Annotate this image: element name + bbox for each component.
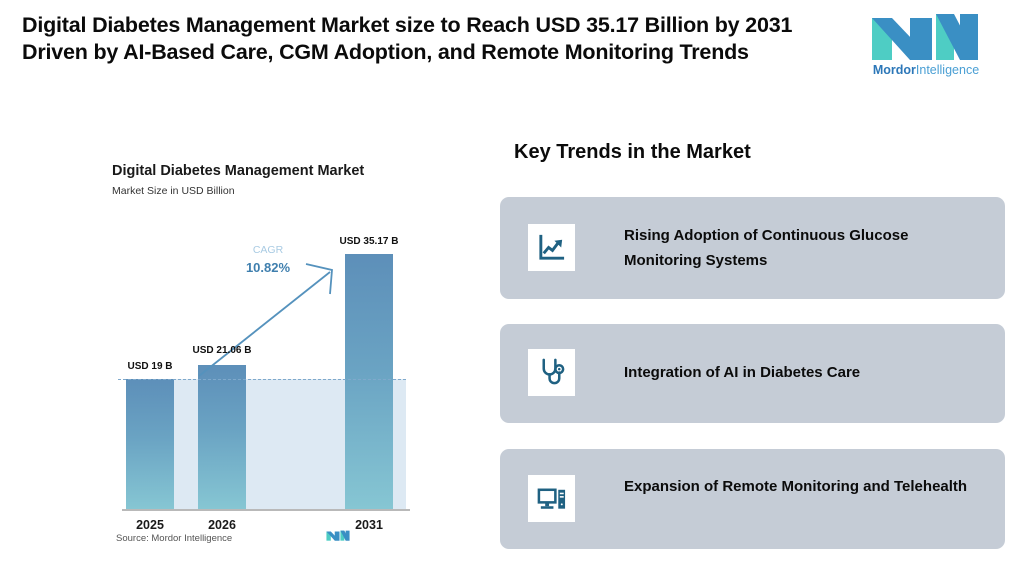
trend-label: Expansion of Remote Monitoring and Teleh… bbox=[624, 474, 987, 499]
desktop-computer-icon bbox=[536, 483, 567, 514]
brand-name-light: Intelligence bbox=[916, 63, 979, 77]
trend-label: Rising Adoption of Continuous Glucose Mo… bbox=[624, 223, 987, 273]
chart-subtitle: Market Size in USD Billion bbox=[112, 185, 235, 197]
page-title: Digital Diabetes Management Market size … bbox=[22, 12, 852, 66]
x-tick-2025: 2025 bbox=[120, 518, 180, 532]
key-trends-heading: Key Trends in the Market bbox=[514, 141, 751, 164]
mordor-mark-icon bbox=[326, 528, 350, 542]
cagr-arrow-icon bbox=[98, 210, 398, 510]
bar-label-2025: USD 19 B bbox=[110, 361, 190, 372]
trend-card-ai[interactable]: Integration of AI in Diabetes Care bbox=[500, 324, 1005, 423]
brand-wordmark: MordorIntelligence bbox=[870, 63, 982, 77]
mordor-intelligence-logo-icon bbox=[870, 8, 980, 60]
trend-icon-box bbox=[528, 349, 575, 396]
chart-title: Digital Diabetes Management Market bbox=[112, 163, 364, 179]
x-tick-2026: 2026 bbox=[192, 518, 252, 532]
bar-label-2026: USD 21.06 B bbox=[178, 345, 266, 356]
line-chart-growth-icon bbox=[536, 232, 567, 263]
page-header: Digital Diabetes Management Market size … bbox=[0, 0, 1027, 118]
chart-plot-area: CAGR 10.82% USD 19 B USD 21.06 B USD 35.… bbox=[98, 210, 398, 510]
chart-panel: Digital Diabetes Management Market Marke… bbox=[98, 155, 398, 555]
brand-name-bold: Mordor bbox=[873, 63, 916, 77]
chart-source: Source: Mordor Intelligence bbox=[116, 533, 232, 544]
brand-logo: MordorIntelligence bbox=[870, 8, 995, 80]
trend-card-telehealth[interactable]: Expansion of Remote Monitoring and Teleh… bbox=[500, 449, 1005, 549]
stethoscope-icon bbox=[536, 357, 567, 388]
chart-axis-line bbox=[122, 509, 410, 511]
trend-card-cgm[interactable]: Rising Adoption of Continuous Glucose Mo… bbox=[500, 197, 1005, 299]
trend-label: Integration of AI in Diabetes Care bbox=[624, 360, 987, 385]
trend-icon-box bbox=[528, 224, 575, 271]
bar-label-2031: USD 35.17 B bbox=[325, 236, 413, 247]
trend-icon-box bbox=[528, 475, 575, 522]
